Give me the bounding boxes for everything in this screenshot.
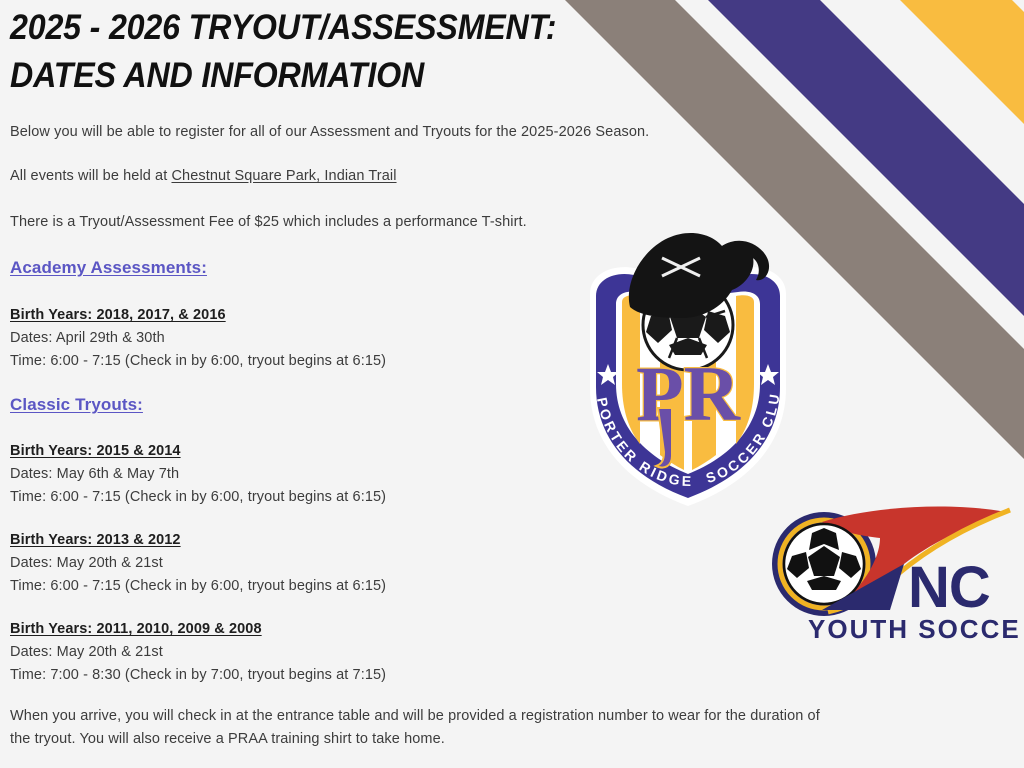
- section-heading-academy-assessments[interactable]: Academy Assessments:: [10, 258, 207, 278]
- page-title-line-2: DATES AND INFORMATION: [10, 52, 580, 100]
- dates-label: Dates: May 20th & 21st: [10, 641, 530, 664]
- intro-line-2-prefix: All events will be held at: [10, 168, 171, 184]
- birth-years-label: Birth Years: 2011, 2010, 2009 & 2008: [10, 618, 530, 641]
- crest-monogram: PR: [636, 350, 742, 437]
- check-in-instructions: When you arrive, you will check in at th…: [10, 705, 820, 751]
- intro-line-1: Below you will be able to register for a…: [10, 121, 649, 144]
- flyer-content: 2025 - 2026 TRYOUT/ASSESSMENT: DATES AND…: [0, 0, 1024, 768]
- venue-location: Chestnut Square Park, Indian Trail: [171, 168, 396, 184]
- page-title: 2025 - 2026 TRYOUT/ASSESSMENT: DATES AND…: [10, 4, 630, 100]
- dates-label: Dates: May 6th & May 7th: [10, 463, 530, 486]
- porter-ridge-soccer-club-crest: PR PORTER RIDGE SOCCER CLUB: [572, 212, 804, 512]
- ncys-primary-text: NC: [908, 555, 990, 620]
- nc-youth-soccer-logo: NC YOUTH SOCCER: [762, 502, 1018, 644]
- tryout-group: Birth Years: 2015 & 2014 Dates: May 6th …: [10, 440, 530, 509]
- tryout-group: Birth Years: 2013 & 2012 Dates: May 20th…: [10, 529, 530, 598]
- time-label: Time: 6:00 - 7:15 (Check in by 6:00, try…: [10, 486, 530, 509]
- tryout-group: Birth Years: 2018, 2017, & 2016 Dates: A…: [10, 304, 530, 373]
- dates-label: Dates: April 29th & 30th: [10, 327, 530, 350]
- time-label: Time: 6:00 - 7:15 (Check in by 6:00, try…: [10, 575, 530, 598]
- birth-years-label: Birth Years: 2018, 2017, & 2016: [10, 304, 530, 327]
- intro-line-2: All events will be held at Chestnut Squa…: [10, 165, 397, 188]
- birth-years-label: Birth Years: 2015 & 2014: [10, 440, 530, 463]
- tryout-group: Birth Years: 2011, 2010, 2009 & 2008 Dat…: [10, 618, 530, 687]
- birth-years-label: Birth Years: 2013 & 2012: [10, 529, 530, 552]
- page-title-line-1: 2025 - 2026 TRYOUT/ASSESSMENT:: [10, 4, 580, 52]
- section-heading-classic-tryouts[interactable]: Classic Tryouts:: [10, 395, 143, 415]
- ncys-secondary-text: YOUTH SOCCER: [808, 614, 1018, 644]
- ncys-soccer-ball: [784, 524, 864, 604]
- time-label: Time: 7:00 - 8:30 (Check in by 7:00, try…: [10, 664, 530, 687]
- time-label: Time: 6:00 - 7:15 (Check in by 6:00, try…: [10, 350, 530, 373]
- dates-label: Dates: May 20th & 21st: [10, 552, 530, 575]
- intro-line-3: There is a Tryout/Assessment Fee of $25 …: [10, 211, 527, 234]
